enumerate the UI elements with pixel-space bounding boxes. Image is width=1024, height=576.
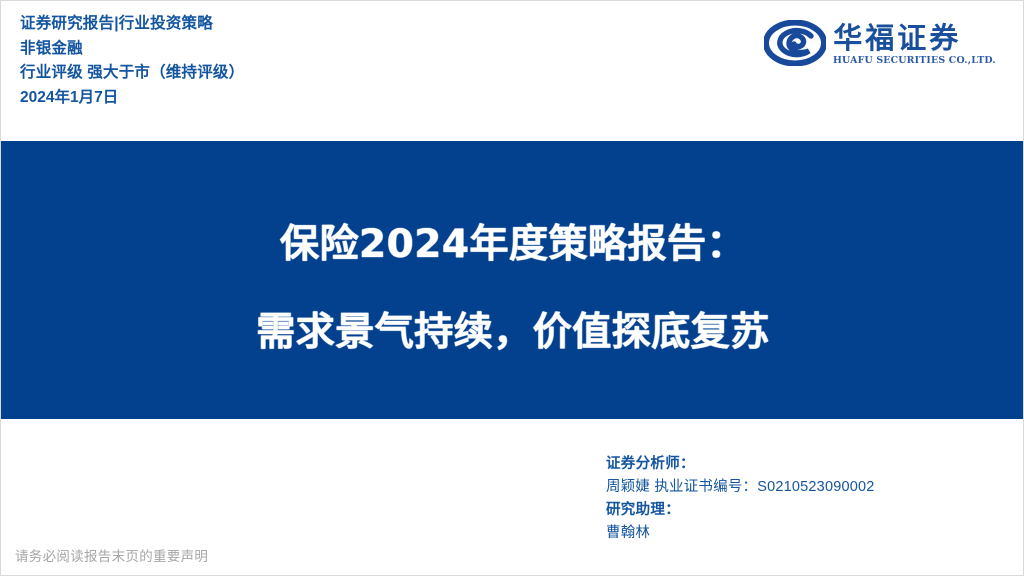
report-title-line-2: 需求景气持续，价值探底复苏 xyxy=(1,307,1024,359)
logo-wordmark: 华福证券 HUAFU SECURITIES CO.,LTD. xyxy=(833,21,993,66)
logo-name-cn: 华福证券 xyxy=(833,22,993,54)
title-banner: 保险2024年度策略报告： 需求景气持续，价值探底复苏 xyxy=(1,141,1024,419)
huafu-spiral-mark-icon xyxy=(764,20,826,66)
industry-rating-line: 行业评级 强大于市（维持评级） xyxy=(20,61,244,86)
report-cover-page: 证券研究报告|行业投资策略 非银金融 行业评级 强大于市（维持评级） 2024年… xyxy=(0,0,1024,576)
footer-disclaimer: 请务必阅读报告末页的重要声明 xyxy=(15,548,208,566)
company-logo: 华福证券 HUAFU SECURITIES CO.,LTD. xyxy=(764,17,993,69)
page-header: 证券研究报告|行业投资策略 非银金融 行业评级 强大于市（维持评级） 2024年… xyxy=(1,1,1024,141)
research-assistant-name: 曹翰林 xyxy=(606,522,875,545)
report-date: 2024年1月7日 xyxy=(20,86,244,111)
report-title-line-1: 保险2024年度策略报告： xyxy=(1,219,1024,271)
analyst-label: 证券分析师： xyxy=(606,453,875,476)
logo-name-en: HUAFU SECURITIES CO.,LTD. xyxy=(833,55,996,66)
report-category-line: 证券研究报告|行业投资策略 xyxy=(20,12,244,37)
report-meta-block: 证券研究报告|行业投资策略 非银金融 行业评级 强大于市（维持评级） 2024年… xyxy=(20,12,244,110)
industry-name-line: 非银金融 xyxy=(20,37,244,62)
research-assistant-label: 研究助理： xyxy=(606,499,875,522)
analyst-credits-block: 证券分析师： 周颖婕 执业证书编号：S0210523090002 研究助理： 曹… xyxy=(606,453,875,545)
analyst-name-and-license: 周颖婕 执业证书编号：S0210523090002 xyxy=(606,476,875,499)
